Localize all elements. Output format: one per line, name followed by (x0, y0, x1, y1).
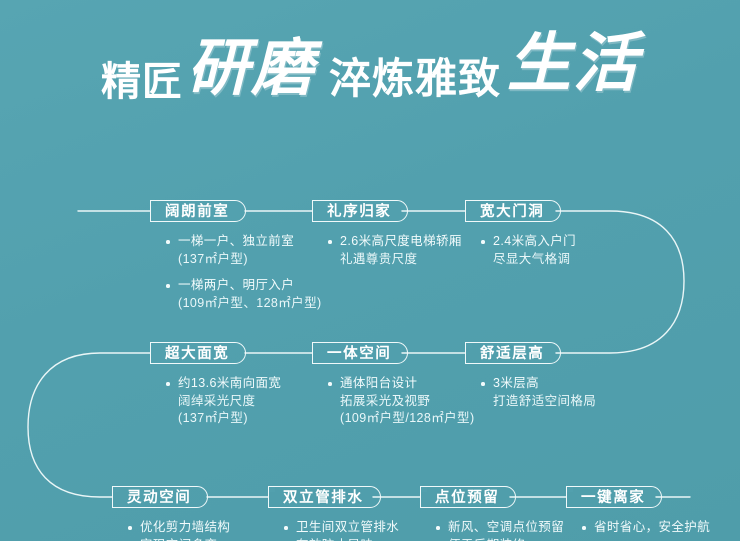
bullet-line-2: 阔绰采光尺度 (178, 393, 281, 411)
feature-node-yijianlijia[interactable]: 一键离家 省时省心，安全护航 (566, 486, 710, 541)
list-item: 卫生间双立管排水 有效防止异味 (282, 519, 399, 541)
bullet-line-1: 约13.6米南向面宽 (178, 375, 281, 393)
feature-title: 宽大门洞 (480, 204, 544, 220)
list-item: 省时省心，安全护航 (580, 519, 710, 537)
feature-bullet-list: 3米层高 打造舒适空间格局 (479, 375, 596, 410)
headline-segment-4: 生活 (507, 32, 639, 96)
bullet-line-2: 打造舒适空间格局 (493, 393, 596, 411)
bullet-line-1: 2.4米高入户门 (493, 233, 576, 251)
poster-canvas: 精匠研磨淬炼雅致生活 阔朗前室 一梯一户、独立前室 (137㎡ (0, 0, 740, 541)
feature-chip[interactable]: 礼序归家 (312, 200, 408, 222)
feature-bullet-list: 卫生间双立管排水 有效防止异味 (282, 519, 399, 541)
feature-title: 一键离家 (581, 490, 645, 506)
bullet-line-2: 实现空间多变 (140, 537, 230, 541)
feature-chip[interactable]: 一键离家 (566, 486, 662, 508)
feature-bullet-list: 省时省心，安全护航 (580, 519, 710, 537)
bullet-line-1: 省时省心，安全护航 (594, 519, 710, 537)
list-item: 3米层高 打造舒适空间格局 (479, 375, 596, 410)
feature-bullet-list: 一梯一户、独立前室 (137㎡户型) 一梯两户、明厅入户 (109㎡户型、128… (164, 233, 322, 312)
feature-bullet-list: 2.6米高尺度电梯轿厢 礼遇尊贵尺度 (326, 233, 462, 268)
connector-left-uturn (28, 353, 150, 497)
feature-title: 双立管排水 (283, 490, 364, 506)
feature-chip[interactable]: 超大面宽 (150, 342, 246, 364)
bullet-line-1: 2.6米高尺度电梯轿厢 (340, 233, 462, 251)
bullet-line-2: 有效防止异味 (296, 537, 399, 541)
feature-bullet-list: 2.4米高入户门 尽显大气格调 (479, 233, 576, 268)
feature-bullet-list: 通体阳台设计 拓展采光及视野 (109㎡户型/128㎡户型) (326, 375, 475, 428)
headline-segment-2: 研磨 (187, 37, 315, 99)
bullet-line-1: 新风、空调点位预留 (448, 519, 564, 537)
feature-title: 灵动空间 (127, 490, 191, 506)
feature-chip[interactable]: 宽大门洞 (465, 200, 561, 222)
list-item: 优化剪力墙结构 实现空间多变 (126, 519, 230, 541)
feature-bullet-list: 约13.6米南向面宽 阔绰采光尺度 (137㎡户型) (164, 375, 281, 428)
bullet-line-2: 便于后期装修 (448, 537, 564, 541)
feature-bullet-list: 优化剪力墙结构 实现空间多变 (126, 519, 230, 541)
bullet-line-2: (137㎡户型) (178, 251, 322, 269)
feature-node-chaodamiankuan[interactable]: 超大面宽 约13.6米南向面宽 阔绰采光尺度 (137㎡户型) (150, 342, 281, 437)
list-item: 通体阳台设计 拓展采光及视野 (109㎡户型/128㎡户型) (326, 375, 475, 428)
feature-chip[interactable]: 阔朗前室 (150, 200, 246, 222)
feature-bullet-list: 新风、空调点位预留 便于后期装修 (434, 519, 564, 541)
bullet-line-2: 礼遇尊贵尺度 (340, 251, 462, 269)
list-item: 一梯一户、独立前室 (137㎡户型) (164, 233, 322, 268)
headline-segment-3: 淬炼雅致 (329, 58, 501, 100)
bullet-line-1: 3米层高 (493, 375, 596, 393)
headline-segment-1: 精匠 (101, 62, 183, 102)
feature-node-shuangliguanpaishui[interactable]: 双立管排水 卫生间双立管排水 有效防止异味 (268, 486, 399, 541)
feature-chip[interactable]: 舒适层高 (465, 342, 561, 364)
feature-title: 一体空间 (327, 346, 391, 362)
feature-node-yitikongjian[interactable]: 一体空间 通体阳台设计 拓展采光及视野 (109㎡户型/128㎡户型) (312, 342, 475, 437)
feature-chip[interactable]: 一体空间 (312, 342, 408, 364)
bullet-line-2: (109㎡户型、128㎡户型) (178, 295, 322, 313)
bullet-line-1: 通体阳台设计 (340, 375, 475, 393)
list-item: 约13.6米南向面宽 阔绰采光尺度 (137㎡户型) (164, 375, 281, 428)
bullet-line-3: (109㎡户型/128㎡户型) (340, 410, 475, 428)
feature-node-kuolangqianshi[interactable]: 阔朗前室 一梯一户、独立前室 (137㎡户型) 一梯两户、明厅入户 (109㎡户… (150, 200, 322, 321)
feature-chip[interactable]: 灵动空间 (112, 486, 208, 508)
feature-title: 舒适层高 (480, 346, 544, 362)
bullet-line-1: 卫生间双立管排水 (296, 519, 399, 537)
bullet-line-1: 一梯一户、独立前室 (178, 233, 322, 251)
feature-title: 阔朗前室 (165, 204, 229, 220)
feature-chip[interactable]: 点位预留 (420, 486, 516, 508)
feature-node-kuandamendong[interactable]: 宽大门洞 2.4米高入户门 尽显大气格调 (465, 200, 576, 277)
feature-title: 超大面宽 (165, 346, 229, 362)
feature-node-dianweiyuliu[interactable]: 点位预留 新风、空调点位预留 便于后期装修 (420, 486, 564, 541)
list-item: 2.4米高入户门 尽显大气格调 (479, 233, 576, 268)
bullet-line-1: 一梯两户、明厅入户 (178, 277, 322, 295)
bullet-line-1: 优化剪力墙结构 (140, 519, 230, 537)
feature-node-shushicenggao[interactable]: 舒适层高 3米层高 打造舒适空间格局 (465, 342, 596, 419)
feature-node-lixuguijia[interactable]: 礼序归家 2.6米高尺度电梯轿厢 礼遇尊贵尺度 (312, 200, 462, 277)
list-item: 一梯两户、明厅入户 (109㎡户型、128㎡户型) (164, 277, 322, 312)
list-item: 2.6米高尺度电梯轿厢 礼遇尊贵尺度 (326, 233, 462, 268)
bullet-line-2: 尽显大气格调 (493, 251, 576, 269)
feature-title: 礼序归家 (327, 204, 391, 220)
bullet-line-3: (137㎡户型) (178, 410, 281, 428)
page-title: 精匠研磨淬炼雅致生活 (0, 34, 740, 98)
bullet-line-2: 拓展采光及视野 (340, 393, 475, 411)
feature-chip[interactable]: 双立管排水 (268, 486, 381, 508)
list-item: 新风、空调点位预留 便于后期装修 (434, 519, 564, 541)
feature-node-lingdongkongjian[interactable]: 灵动空间 优化剪力墙结构 实现空间多变 (112, 486, 230, 541)
feature-title: 点位预留 (435, 490, 499, 506)
